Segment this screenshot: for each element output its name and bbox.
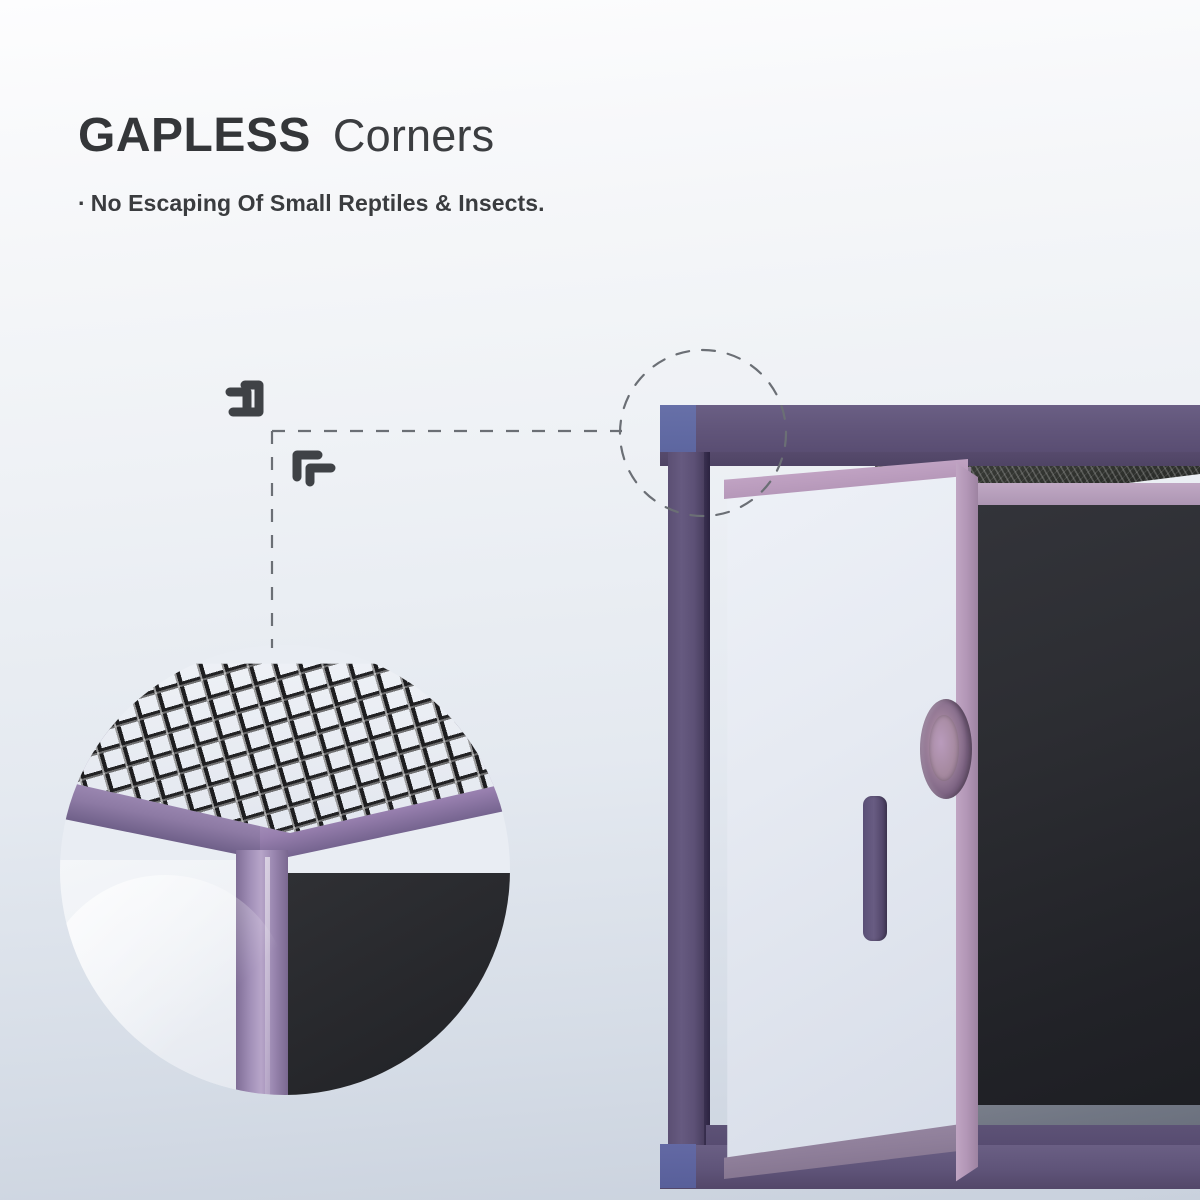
- corner-bracket-top-left-icon: [297, 455, 331, 482]
- corner-highlight-circle: [620, 350, 786, 516]
- callout-overlay: [0, 0, 1200, 1200]
- corner-bracket-bottom-right-icon: [230, 385, 259, 412]
- promo-banner: GAPLESS Corners ·No Escaping Of Small Re…: [0, 0, 1200, 1200]
